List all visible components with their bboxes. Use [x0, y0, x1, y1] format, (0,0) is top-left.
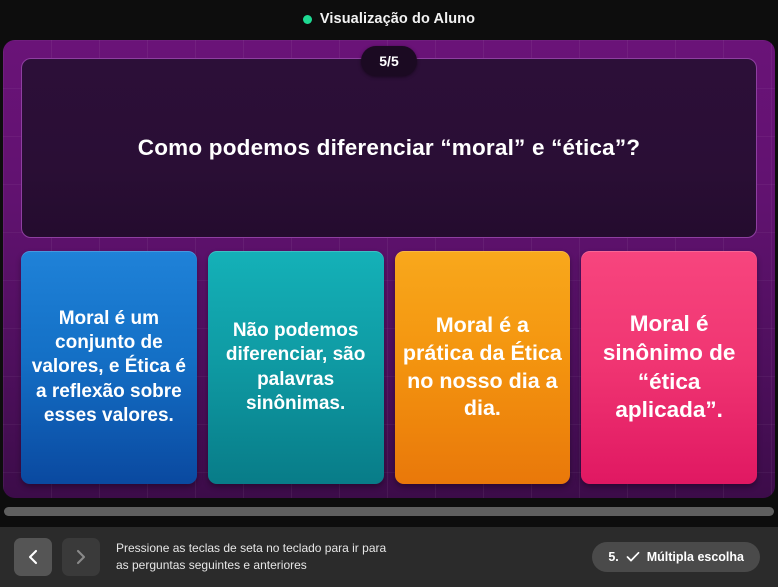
- header-title: Visualização do Aluno: [320, 11, 475, 27]
- answer-options: Moral é um conjunto de valores, e Ética …: [21, 251, 757, 484]
- answer-option-1[interactable]: Moral é um conjunto de valores, e Ética …: [21, 251, 197, 484]
- previous-question-button[interactable]: [14, 538, 52, 576]
- answer-option-3[interactable]: Moral é a prática da Ética no nosso dia …: [395, 251, 571, 484]
- chevron-left-icon: [26, 549, 40, 565]
- next-question-button[interactable]: [62, 538, 100, 576]
- question-number: 5.: [608, 550, 618, 564]
- header-bar: Visualização do Aluno: [0, 0, 778, 38]
- chevron-right-icon: [74, 549, 88, 565]
- question-type-badge[interactable]: 5. Múltipla escolha: [592, 542, 760, 572]
- live-dot-icon: [303, 15, 312, 24]
- scrollbar-thumb[interactable]: [4, 507, 774, 516]
- question-panel: Como podemos diferenciar “moral” e “étic…: [21, 58, 757, 238]
- answer-option-2[interactable]: Não podemos diferenciar, são palavras si…: [208, 251, 384, 484]
- answer-option-4[interactable]: Moral é sinônimo de “ética aplicada”.: [581, 251, 757, 484]
- question-counter-badge: 5/5: [361, 46, 417, 76]
- question-type-label: Múltipla escolha: [647, 550, 744, 564]
- keyboard-hint: Pressione as teclas de seta no teclado p…: [116, 540, 386, 575]
- question-stage: 5/5 Como podemos diferenciar “moral” e “…: [3, 40, 775, 498]
- keyboard-hint-line-2: as perguntas seguintes e anteriores: [116, 557, 386, 574]
- horizontal-scrollbar[interactable]: [0, 503, 778, 519]
- question-text: Como podemos diferenciar “moral” e “étic…: [138, 133, 640, 162]
- keyboard-hint-line-1: Pressione as teclas de seta no teclado p…: [116, 540, 386, 557]
- bottom-toolbar: Pressione as teclas de seta no teclado p…: [0, 527, 778, 587]
- quiz-preview-screen: Visualização do Aluno 5/5 Como podemos d…: [0, 0, 778, 587]
- check-icon: [626, 551, 640, 563]
